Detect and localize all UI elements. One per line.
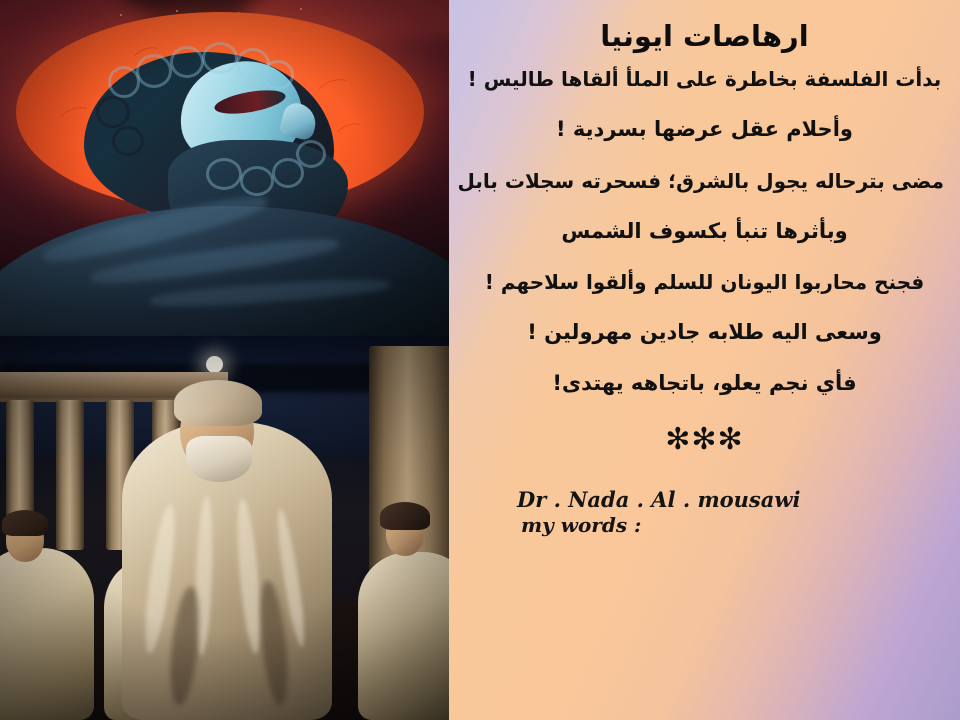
thales-teaching-night-photo bbox=[0, 336, 449, 720]
bust-figure bbox=[0, 0, 449, 336]
hair-curl bbox=[262, 60, 294, 90]
philosopher-bust-sun-illustration bbox=[0, 0, 449, 336]
moon-icon bbox=[206, 356, 223, 373]
signature-block: Dr . Nada . Al . mousawi my words : bbox=[465, 487, 944, 538]
poem-line-3: مضى بترحاله يجول بالشرق؛ فسحرته سجلات با… bbox=[465, 169, 944, 193]
poem-line-7: فأي نجم يعلو، باتجاهه يهتدى! bbox=[465, 371, 944, 396]
author-name: Dr . Nada . Al . mousawi bbox=[517, 487, 944, 513]
slide-canvas: ارهاصات ايونيا بدأت الفلسفة بخاطرة على ا… bbox=[0, 0, 960, 720]
poem-panel: ارهاصات ايونيا بدأت الفلسفة بخاطرة على ا… bbox=[449, 0, 960, 720]
poem-line-4: وبأثرها تنبأ بكسوف الشمس bbox=[465, 219, 944, 244]
hair-curl bbox=[202, 42, 238, 74]
disciple-figure bbox=[358, 552, 449, 720]
poem-title: ارهاصات ايونيا bbox=[465, 20, 944, 53]
poem-separator: ✻✻✻ bbox=[465, 422, 944, 457]
disciple-hair bbox=[2, 510, 48, 536]
poem-line-2: وأحلام عقل عرضها بسردية ! bbox=[465, 117, 944, 142]
author-note: my words : bbox=[517, 513, 944, 538]
hair-curl bbox=[112, 126, 144, 156]
temple-column bbox=[56, 400, 84, 550]
hair-curl bbox=[96, 96, 130, 128]
philosopher-hair bbox=[174, 380, 262, 426]
hair-curl bbox=[170, 46, 204, 78]
poem-line-5: فجنح محاربوا اليونان للسلم وألقوا سلاحهم… bbox=[465, 270, 944, 294]
hair-curl bbox=[136, 54, 172, 88]
disciple-hair bbox=[380, 502, 430, 530]
beard-curl bbox=[296, 140, 326, 168]
beard-curl bbox=[206, 158, 242, 190]
poem-line-1: بدأت الفلسفة بخاطرة على الملأ ألقاها طال… bbox=[465, 67, 944, 91]
image-column bbox=[0, 0, 449, 720]
philosopher-beard bbox=[186, 436, 252, 482]
poem-line-6: وسعى اليه طلابه جادين مهرولين ! bbox=[465, 320, 944, 345]
beard-curl bbox=[240, 166, 274, 196]
disciple-figure bbox=[0, 548, 94, 720]
bust-drapery bbox=[0, 206, 449, 336]
